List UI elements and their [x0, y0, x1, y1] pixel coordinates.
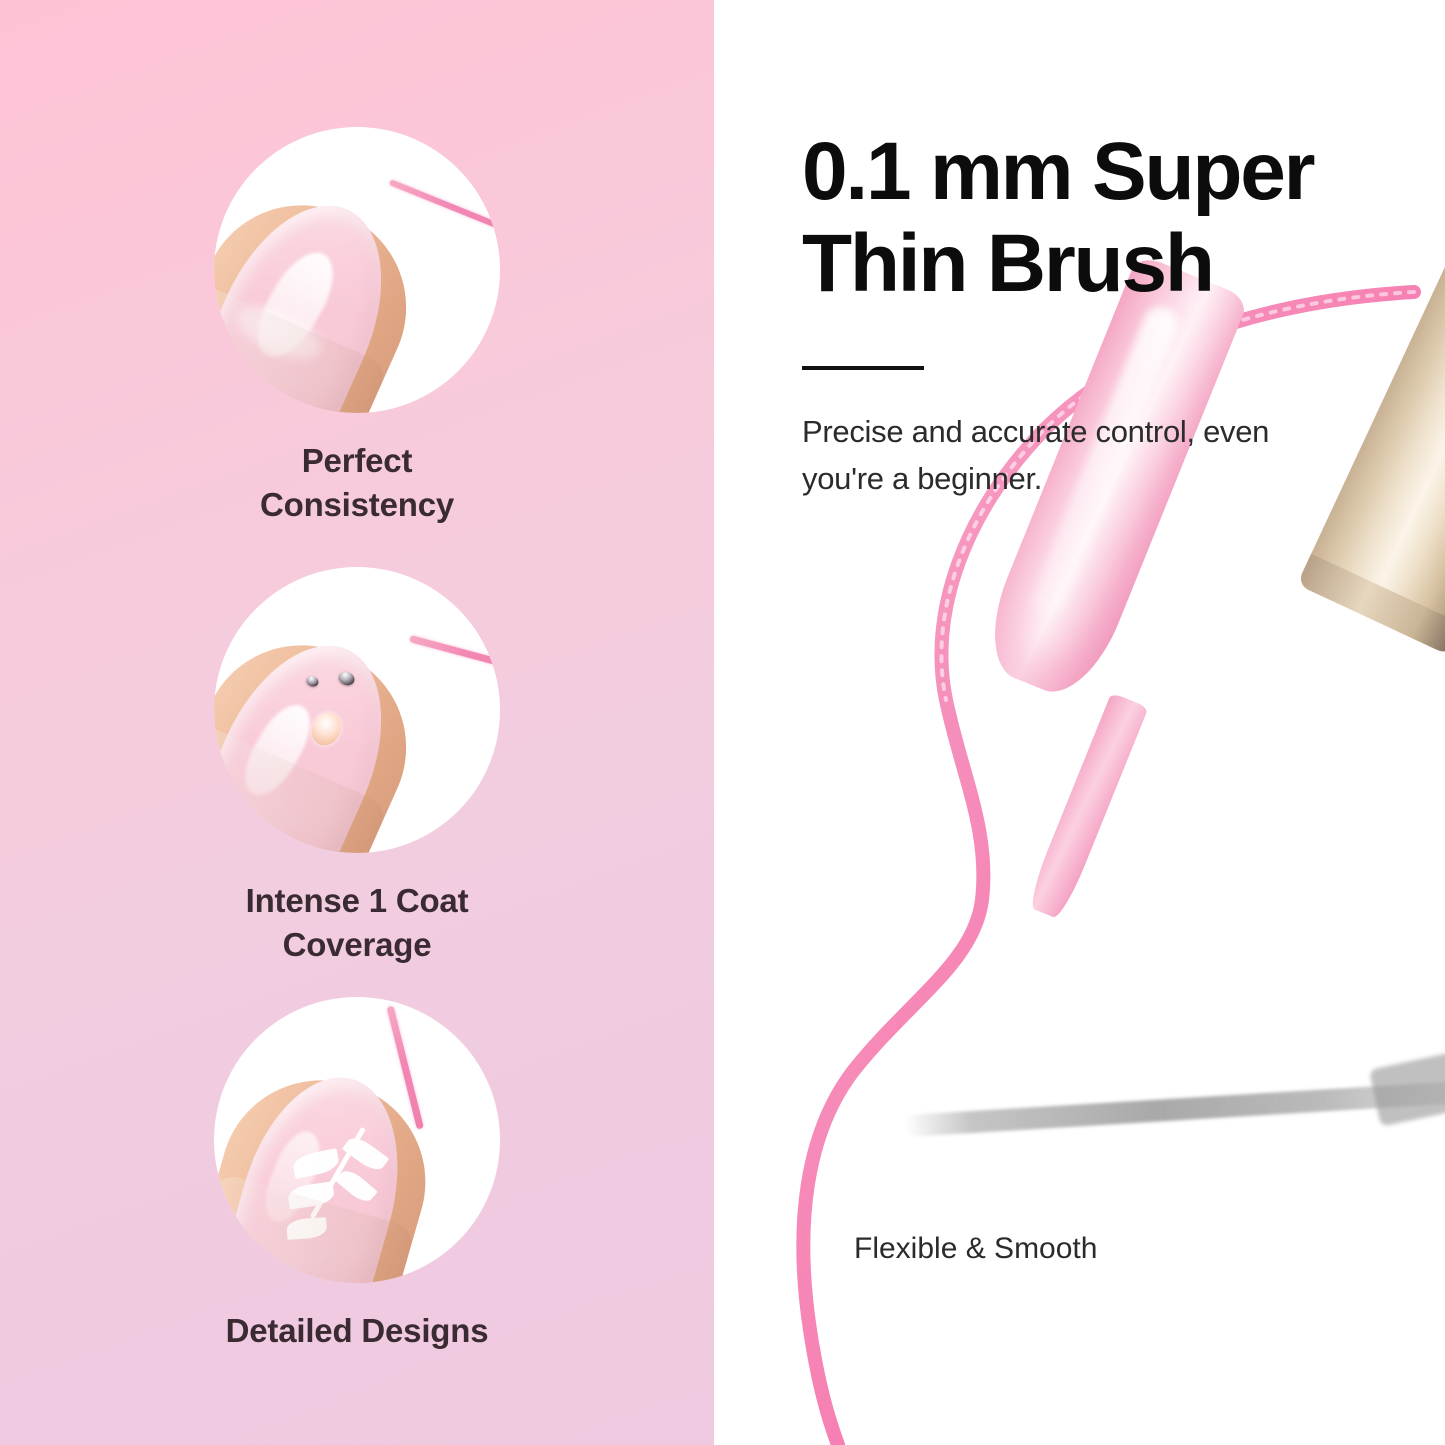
page-title: 0.1 mm Super Thin Brush [802, 126, 1442, 310]
feature-image-3 [214, 997, 500, 1283]
glitter-accent [307, 708, 346, 750]
brush-stroke-line [409, 635, 500, 676]
brush-stroke-line [389, 179, 500, 241]
hero-subtitle: Precise and accurate control, even you'r… [802, 408, 1322, 502]
flexible-smooth-caption: Flexible & Smooth [854, 1232, 1097, 1266]
feature-item-detailed-designs: Detailed Designs [0, 997, 714, 1353]
nail-glossy [214, 619, 416, 853]
nail-gloss-highlight [244, 241, 347, 367]
headline-line-1: 0.1 mm Super [802, 126, 1442, 218]
features-panel: Perfect Consistency Intense 1 Coat [0, 0, 714, 1445]
rhinestone-gem [305, 674, 320, 688]
nail-glossy [214, 1059, 425, 1283]
feature-item-intense-coverage: Intense 1 Coat Coverage [0, 567, 714, 967]
feature-image-2 [214, 567, 500, 853]
leaf-petal [335, 1166, 378, 1206]
feature-label-1: Perfect Consistency [0, 439, 714, 527]
leaf-petal [342, 1133, 389, 1175]
rhinestone-gem [337, 669, 357, 687]
title-divider [802, 366, 924, 370]
product-feature-page: Perfect Consistency Intense 1 Coat [0, 0, 1445, 1445]
feature-image-1 [214, 127, 500, 413]
nail-gloss-highlight [256, 1125, 329, 1229]
feature-label-2: Intense 1 Coat Coverage [0, 879, 714, 967]
nail-glossy [214, 179, 416, 413]
headline-line-2: Thin Brush [802, 218, 1442, 310]
fingertip-illustration [214, 613, 438, 853]
feature-item-perfect-consistency: Perfect Consistency [0, 127, 714, 527]
nail-gloss-highlight [234, 696, 322, 805]
fingertip-illustration [214, 173, 438, 413]
hero-panel: 0.1 mm Super Thin Brush Precise and accu… [714, 0, 1445, 1445]
feature-label-3: Detailed Designs [0, 1309, 714, 1353]
leaf-petal [286, 1217, 327, 1240]
